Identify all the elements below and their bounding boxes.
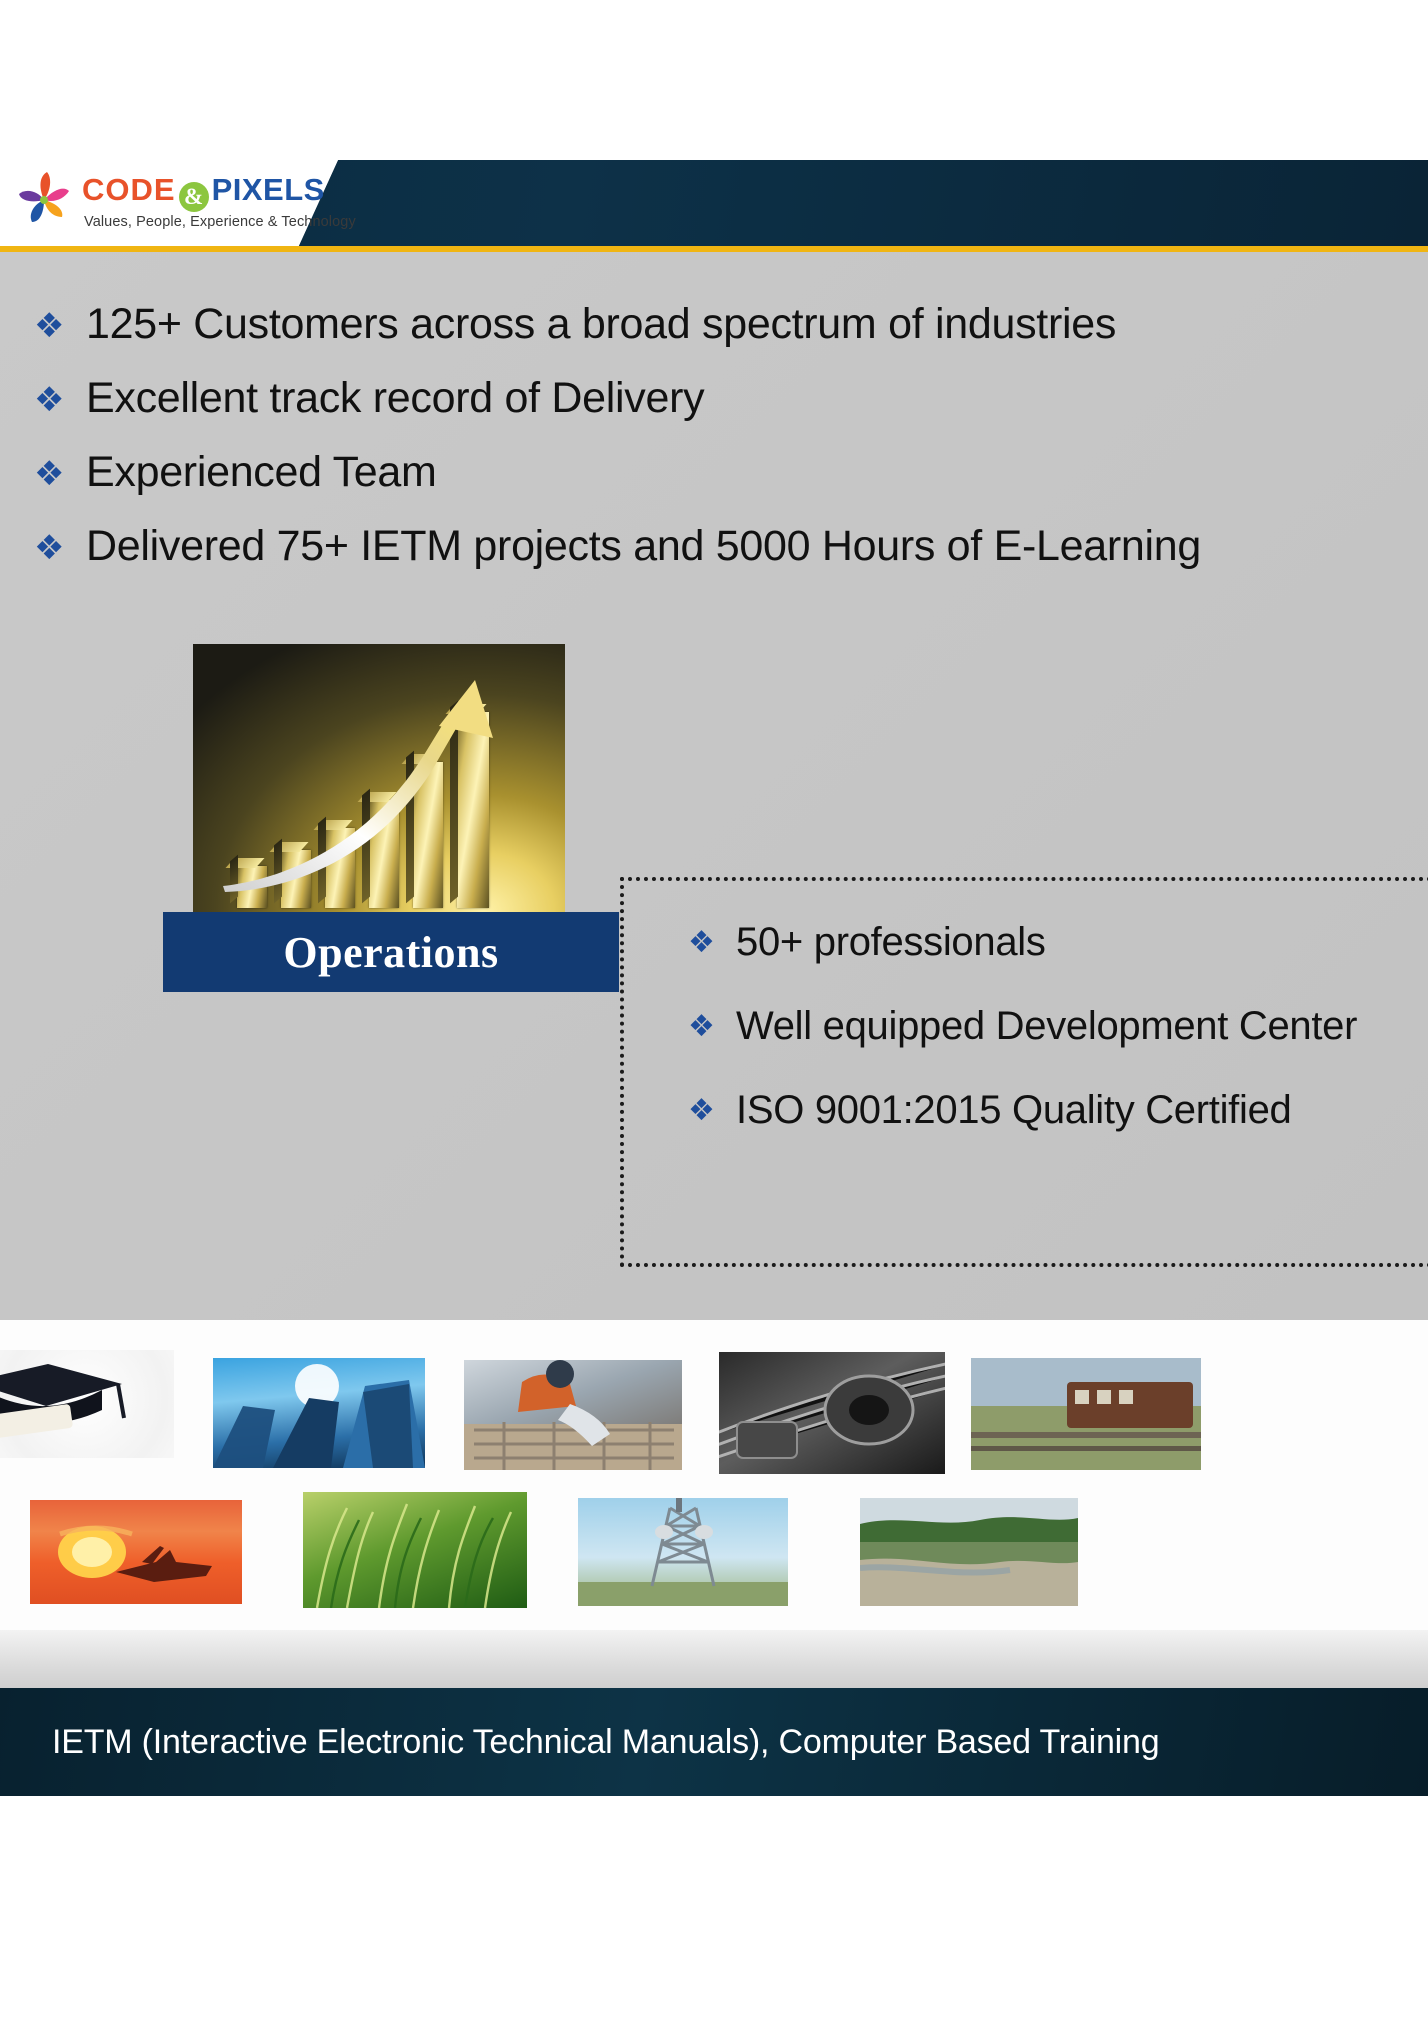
bullet-label: Well equipped Development Center — [736, 1004, 1357, 1048]
operations-caption-banner: Operations — [163, 912, 619, 992]
brand-wordmark: CODE&PIXELS — [82, 172, 342, 212]
bullet-label: ISO 9001:2015 Quality Certified — [736, 1088, 1291, 1132]
slide-footer: IETM (Interactive Electronic Technical M… — [0, 1688, 1428, 1796]
brand-tagline: Values, People, Experience & Technology — [84, 214, 356, 230]
steel-cables-machinery-photo — [719, 1352, 945, 1474]
main-bullet-list: ❖ 125+ Customers across a broad spectrum… — [34, 300, 1428, 597]
content-panel: ❖ 125+ Customers across a broad spectrum… — [0, 252, 1428, 1320]
bullet-label: Excellent track record of Delivery — [86, 374, 704, 422]
construction-worker-rebar-photo — [464, 1360, 682, 1470]
bullet-label: Delivered 75+ IETM projects and 5000 Hou… — [86, 522, 1201, 570]
slide-header: CODE&PIXELS Values, People, Experience &… — [0, 160, 1428, 252]
list-item: ❖ Delivered 75+ IETM projects and 5000 H… — [34, 522, 1428, 570]
slide-canvas: CODE&PIXELS Values, People, Experience &… — [0, 0, 1428, 2018]
industry-photo-strip — [0, 1320, 1428, 1630]
brand-logo[interactable]: CODE&PIXELS Values, People, Experience &… — [14, 166, 334, 246]
telecom-tower-photo — [578, 1498, 788, 1606]
pinwheel-logo-icon — [14, 170, 76, 232]
diamond-bullet-icon: ❖ — [688, 920, 736, 958]
list-item: ❖ Well equipped Development Center — [688, 1004, 1428, 1048]
highlights-bullet-list: ❖ 50+ professionals ❖ Well equipped Deve… — [688, 920, 1428, 1172]
list-item: ❖ ISO 9001:2015 Quality Certified — [688, 1088, 1428, 1132]
bullet-label: 50+ professionals — [736, 920, 1046, 964]
river-wetland-photo — [860, 1498, 1078, 1606]
diamond-bullet-icon: ❖ — [34, 522, 86, 565]
operations-caption-label: Operations — [283, 927, 498, 978]
graduation-cap-diploma-photo — [0, 1350, 174, 1458]
paddy-crop-field-photo — [303, 1492, 527, 1608]
aircraft-sunset-photo — [30, 1500, 242, 1604]
glass-skyscrapers-photo — [213, 1358, 425, 1468]
list-item: ❖ 125+ Customers across a broad spectrum… — [34, 300, 1428, 348]
footer-label: IETM (Interactive Electronic Technical M… — [52, 1723, 1159, 1762]
logo-word-pixels: PIXELS — [212, 172, 325, 207]
growth-arrow-icon — [217, 680, 517, 894]
logo-ampersand-badge: & — [179, 182, 209, 212]
growth-bar-chart-photo — [193, 644, 565, 922]
diamond-bullet-icon: ❖ — [688, 1088, 736, 1126]
diamond-bullet-icon: ❖ — [34, 374, 86, 417]
diamond-bullet-icon: ❖ — [688, 1004, 736, 1042]
list-item: ❖ 50+ professionals — [688, 920, 1428, 964]
logo-word-code: CODE — [82, 172, 176, 207]
list-item: ❖ Excellent track record of Delivery — [34, 374, 1428, 422]
railway-train-landscape-photo — [971, 1358, 1201, 1470]
bullet-label: 125+ Customers across a broad spectrum o… — [86, 300, 1116, 348]
strip-bottom-fade — [0, 1630, 1428, 1688]
list-item: ❖ Experienced Team — [34, 448, 1428, 496]
bullet-label: Experienced Team — [86, 448, 437, 496]
diamond-bullet-icon: ❖ — [34, 448, 86, 491]
diamond-bullet-icon: ❖ — [34, 300, 86, 343]
